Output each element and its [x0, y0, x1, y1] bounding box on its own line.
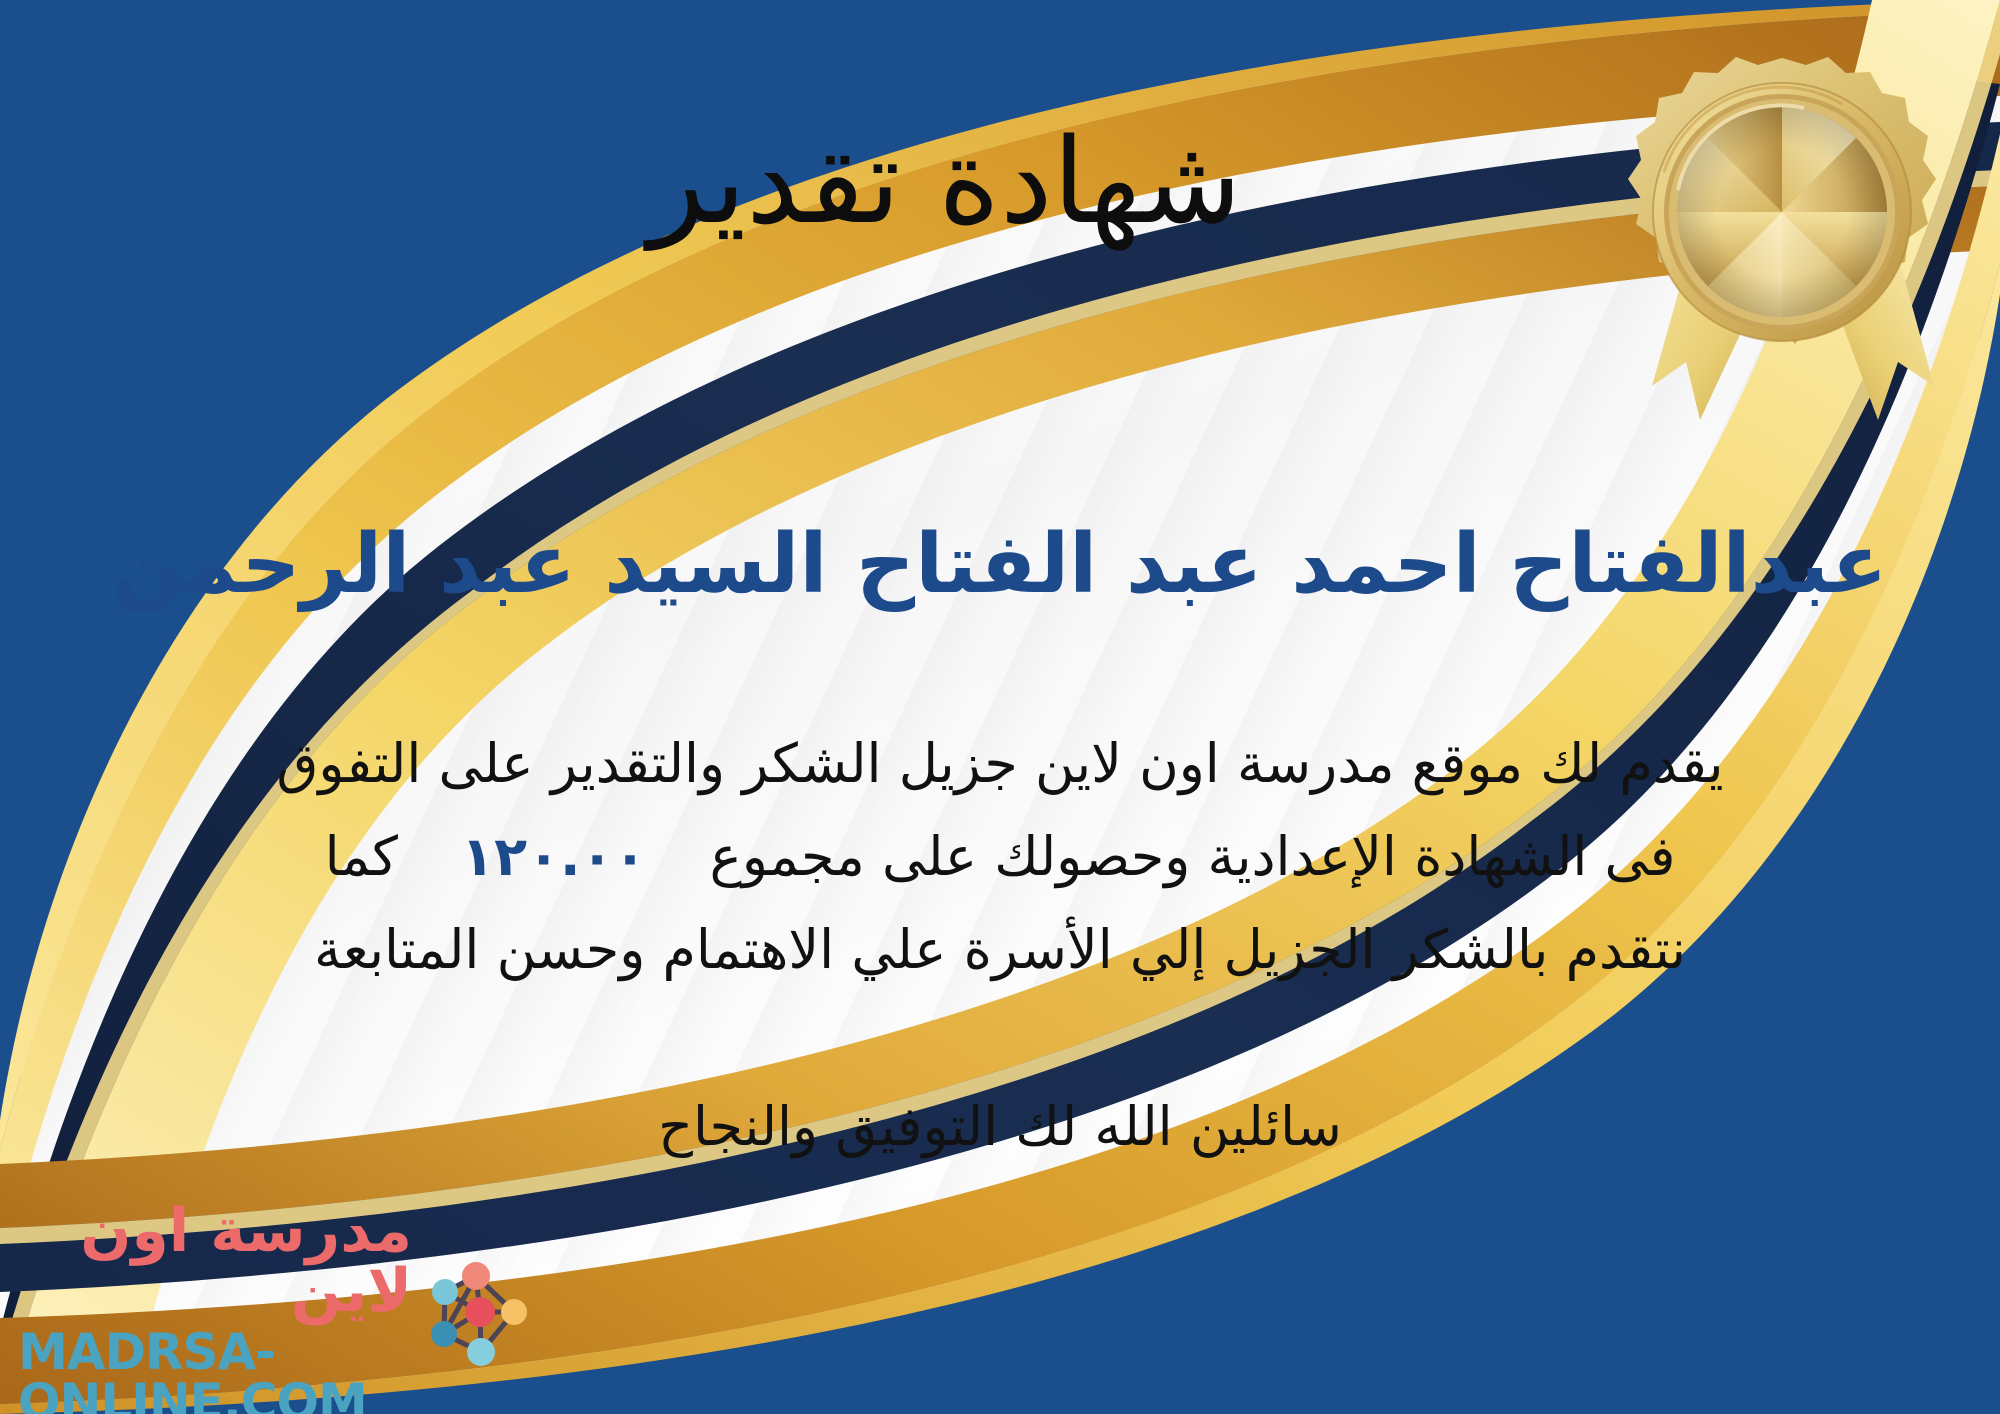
- brand-arabic-name: مدرسة اون لاين: [18, 1201, 412, 1321]
- gold-award-medal-icon: [1582, 44, 1982, 444]
- body-line-3: نتقدم بالشكر الجزيل إلي الأسرة علي الاهت…: [40, 904, 1960, 997]
- body-line-2-right: فى الشهادة الإعدادية وحصولك على مجموع: [710, 825, 1676, 888]
- certificate-canvas: شهادة تقدير عبدالفتاح احمد عبد الفتاح ال…: [0, 0, 2000, 1414]
- grade-total-value: ١٢٠.٠٠: [415, 825, 692, 888]
- brand-website: MADRSA-ONLINE.COM: [18, 1327, 412, 1414]
- body-line-2-left: كما: [325, 825, 398, 888]
- certificate-body: يقدم لك موقع مدرسة اون لاين جزيل الشكر و…: [40, 718, 1960, 997]
- network-nodes-icon: [418, 1254, 538, 1374]
- brand-logo[interactable]: مدرسة اون لاين MADRSA-ONLINE.COM: [18, 1234, 538, 1394]
- body-line-1: يقدم لك موقع مدرسة اون لاين جزيل الشكر و…: [40, 718, 1960, 811]
- body-line-2: فى الشهادة الإعدادية وحصولك على مجموع ١٢…: [40, 811, 1960, 904]
- brand-logo-text: مدرسة اون لاين MADRSA-ONLINE.COM: [18, 1201, 412, 1414]
- closing-wish: سائلين الله لك التوفيق والنجاح: [0, 1095, 2000, 1158]
- recipient-name: عبدالفتاح احمد عبد الفتاح السيد عبد الرح…: [0, 516, 2000, 614]
